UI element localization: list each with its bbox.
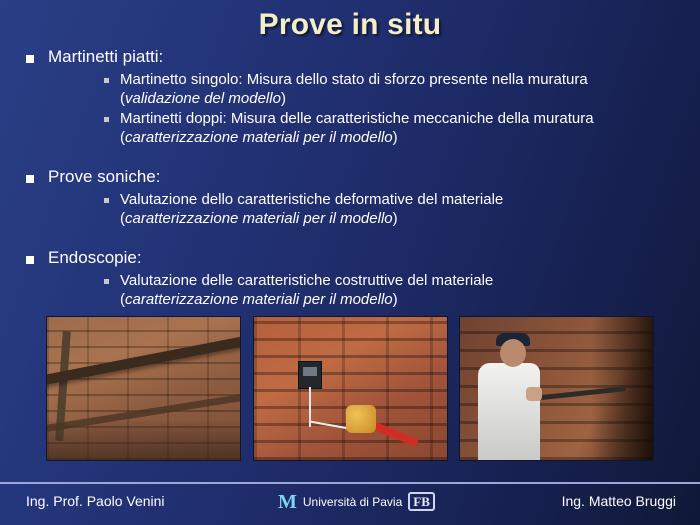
footer: Ing. Prof. Paolo Venini M Università di … [0,487,700,525]
square-bullet-icon [26,175,34,183]
bullet-item-text: Valutazione dello caratteristiche deform… [120,190,610,228]
photo-detail [500,339,526,367]
bullet-text-tail: ) [393,210,398,227]
bullet-text-tail: ) [281,90,286,107]
section-heading-text: Endoscopie: [48,247,142,269]
department-logo-icon: FB [408,492,435,511]
bullet-text-tail: ) [393,291,398,308]
bullet-item: Martinetto singolo: Misura dello stato d… [104,70,682,108]
photo-detail [478,363,540,461]
photo-row [46,316,654,461]
bullet-item: Valutazione dello caratteristiche deform… [104,190,682,228]
small-square-bullet-icon [104,279,109,284]
photo-detail [346,405,376,433]
footer-institution: M Università di Pavia FB [278,492,435,511]
bullet-text-emphasis: caratterizzazione materiali per il model… [125,129,393,146]
small-square-bullet-icon [104,78,109,83]
bullet-item-text: Martinetti doppi: Misura delle caratteri… [120,109,610,147]
photo-detail [298,361,322,389]
bullet-item: Martinetti doppi: Misura delle caratteri… [104,109,682,147]
photo-sonic-test [253,316,448,461]
photo-flat-jack [46,316,241,461]
bullet-item-text: Valutazione delle caratteristiche costru… [120,271,610,309]
section-heading-text: Martinetti piatti: [48,46,163,68]
bullet-text-tail: ) [393,129,398,146]
small-square-bullet-icon [104,117,109,122]
footer-author-left: Ing. Prof. Paolo Venini [26,493,165,509]
small-square-bullet-icon [104,198,109,203]
slide-body: Martinetti piatti: Martinetto singolo: M… [26,46,682,310]
bullet-text-emphasis: validazione del modello [125,90,281,107]
university-monogram-icon: M [278,493,297,511]
square-bullet-icon [26,55,34,63]
photo-detail [47,421,241,461]
section-heading-text: Prove soniche: [48,166,160,188]
footer-institution-label: Università di Pavia [303,495,402,509]
photo-endoscopy [459,316,654,461]
page-title: Prove in situ [0,8,700,42]
square-bullet-icon [26,256,34,264]
footer-author-right: Ing. Matteo Bruggi [562,493,676,509]
bullet-text-emphasis: caratterizzazione materiali per il model… [125,210,393,227]
photo-detail [526,387,542,401]
spacer [26,229,682,247]
section-heading-prove-soniche: Prove soniche: [26,166,682,188]
photo-detail [46,332,241,388]
footer-divider [0,482,700,484]
spacer [26,148,682,166]
bullet-text-emphasis: caratterizzazione materiali per il model… [125,291,393,308]
bullet-item: Valutazione delle caratteristiche costru… [104,271,682,309]
slide: Prove in situ Martinetti piatti: Martine… [0,0,700,525]
section-heading-endoscopie: Endoscopie: [26,247,682,269]
bullet-item-text: Martinetto singolo: Misura dello stato d… [120,70,610,108]
section-heading-martinetti-piatti: Martinetti piatti: [26,46,682,68]
